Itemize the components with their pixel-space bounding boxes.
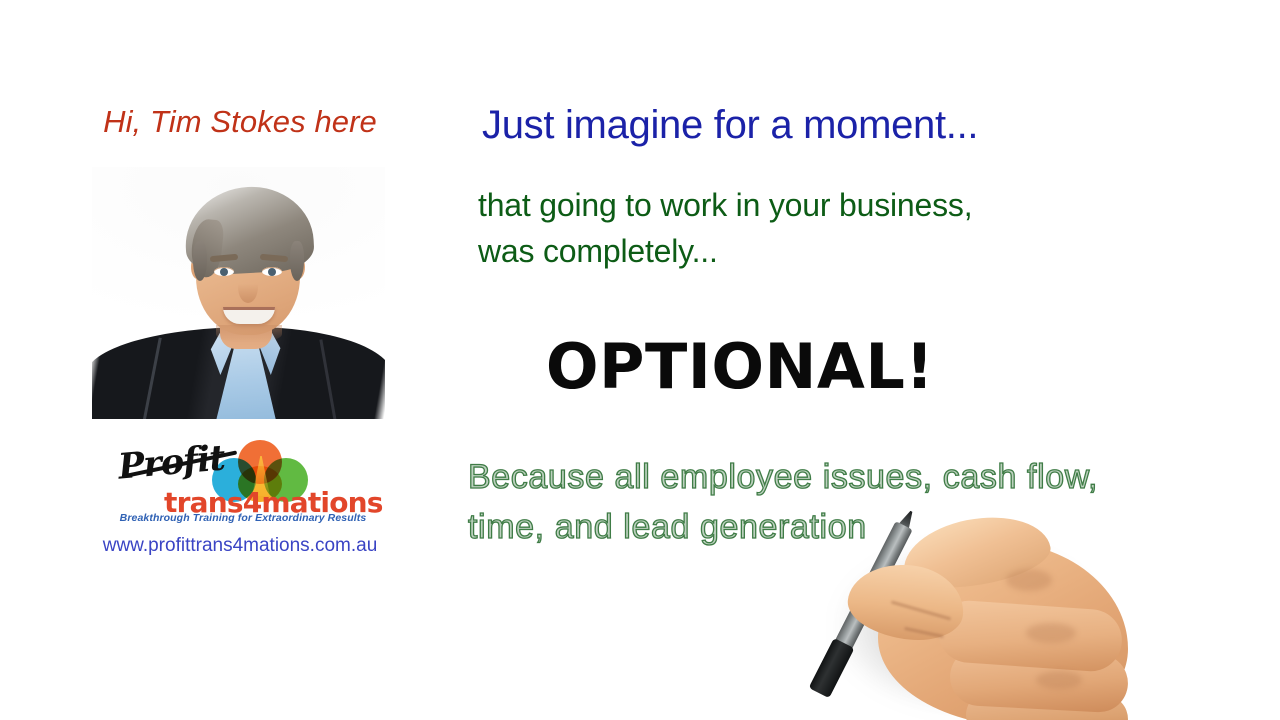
knuckle-1 <box>1006 569 1052 591</box>
pupil-right <box>268 268 276 276</box>
whiteboard-slide: Hi, Tim Stokes here Profit <box>0 0 1280 720</box>
nose <box>238 271 258 303</box>
logo-tagline: Breakthrough Training for Extraordinary … <box>118 512 368 524</box>
subheadline-block: that going to work in your business, was… <box>478 183 972 275</box>
website-url: www.profittrans4mations.com.au <box>0 535 480 557</box>
pupil-left <box>220 268 228 276</box>
knuckle-2 <box>1026 623 1076 643</box>
emphasis-word-optional: OPTIONAL! <box>0 330 1280 403</box>
subheadline-line-2: was completely... <box>478 229 972 275</box>
logo-word-profit: Profit <box>116 437 226 487</box>
headline-text: Just imagine for a moment... <box>482 103 978 148</box>
presenter-greeting: Hi, Tim Stokes here <box>0 104 480 140</box>
company-logo: Profit trans4mations Breakthrough Traini… <box>118 440 368 526</box>
hand <box>830 513 1160 720</box>
knuckle-3 <box>1036 671 1082 689</box>
outlined-text-line-1: Because all employee issues, cash flow, <box>468 453 1098 503</box>
sideburn-right <box>290 241 304 281</box>
subheadline-line-1: that going to work in your business, <box>478 183 972 229</box>
sideburn-left <box>193 241 207 281</box>
drawing-hand-layer <box>830 505 1230 720</box>
